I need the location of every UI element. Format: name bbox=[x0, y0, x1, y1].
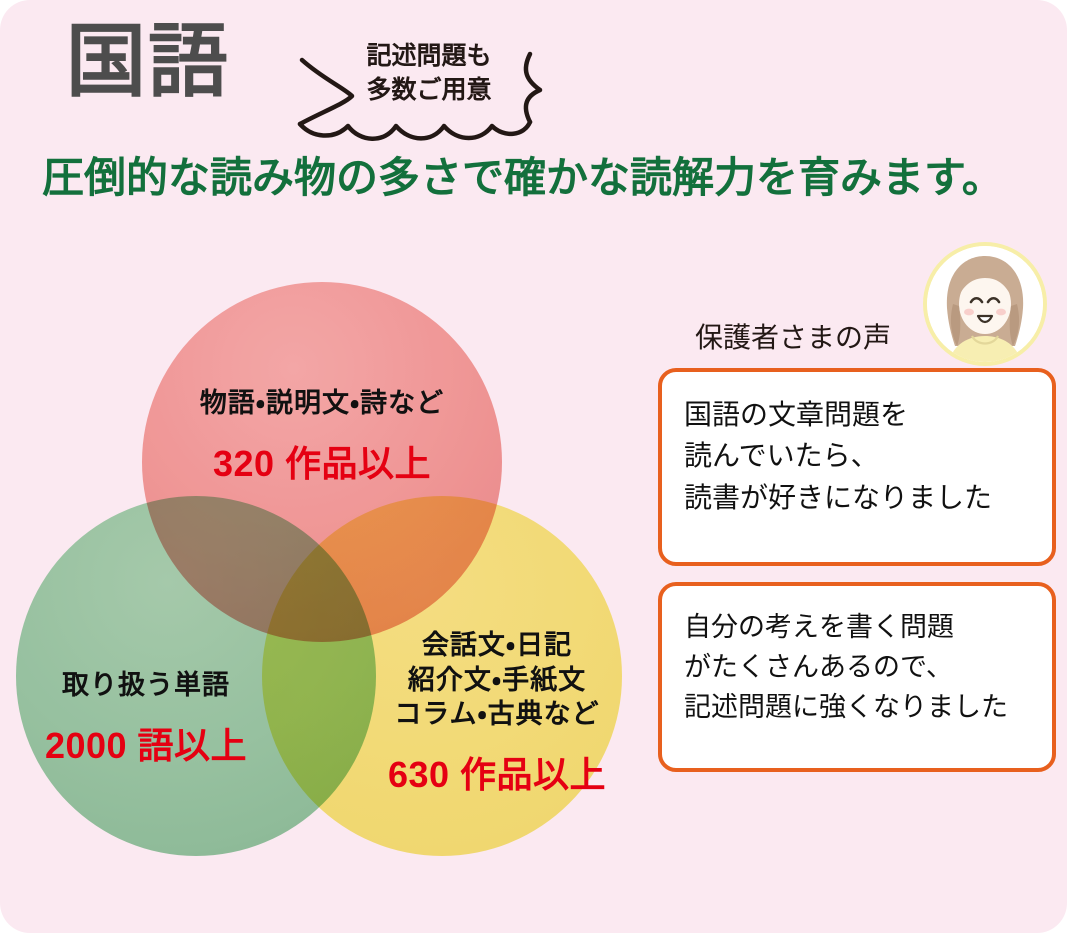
venn-count-stories: 320 作品以上 bbox=[136, 441, 508, 488]
parent-avatar-icon bbox=[923, 242, 1047, 366]
header: 国語 記述問題も 多数ご用意 bbox=[0, 0, 1067, 150]
parent-voice-text: 国語の文章問題を 読んでいたら、 読書が好きになりました bbox=[684, 394, 1030, 518]
venn-label-vocabulary: 取り扱う単語 2000 語以上 bbox=[10, 650, 282, 787]
venn-diagram: 物語・説明文・詩など 320 作品以上 取り扱う単語 2000 語以上 会話文・… bbox=[0, 250, 660, 870]
callout-bubble-text: 記述問題も 多数ご用意 bbox=[324, 40, 534, 108]
parent-voices-section: 保護者さまの声 bbox=[655, 238, 1059, 798]
headline: 圧倒的な読み物の多さで確かな読解力を育みます。 bbox=[42, 155, 1032, 201]
promo-panel: 国語 記述問題も 多数ご用意 圧倒的な読み物の多さで確かな読解力を育みます。 物… bbox=[0, 0, 1067, 933]
venn-category-texts: 会話文・日記 紹介文・手紙文 コラム・古典など bbox=[366, 628, 628, 732]
venn-count-vocabulary: 2000 語以上 bbox=[10, 723, 282, 770]
venn-category-vocabulary: 取り扱う単語 bbox=[10, 668, 282, 703]
venn-label-texts: 会話文・日記 紹介文・手紙文 コラム・古典など 630 作品以上 bbox=[366, 610, 628, 816]
parent-voices-heading: 保護者さまの声 bbox=[695, 324, 891, 352]
venn-count-texts: 630 作品以上 bbox=[366, 752, 628, 799]
parent-voice-text: 自分の考えを書く問題 がたくさんあるので、 記述問題に強くなりました bbox=[684, 608, 1030, 728]
parent-voice-card: 国語の文章問題を 読んでいたら、 読書が好きになりました bbox=[658, 368, 1056, 566]
parent-voice-card: 自分の考えを書く問題 がたくさんあるので、 記述問題に強くなりました bbox=[658, 582, 1056, 772]
callout-bubble: 記述問題も 多数ご用意 bbox=[278, 26, 570, 146]
venn-label-stories: 物語・説明文・詩など 320 作品以上 bbox=[136, 368, 508, 505]
venn-category-stories: 物語・説明文・詩など bbox=[136, 386, 508, 421]
page-title: 国語 bbox=[66, 22, 230, 102]
